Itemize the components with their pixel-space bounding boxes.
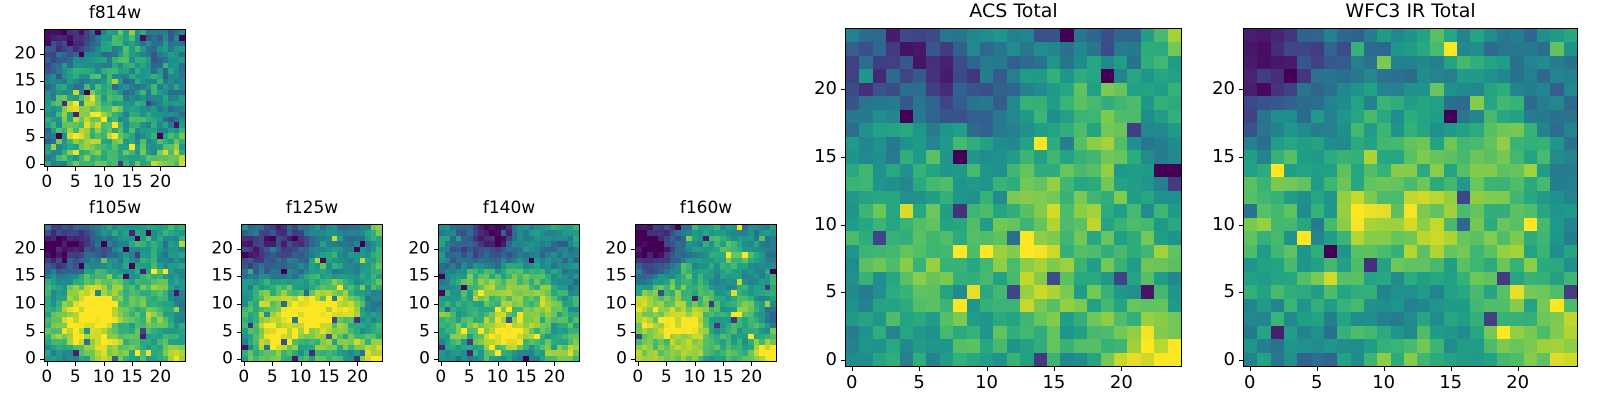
x-tick-label: 15 bbox=[515, 369, 537, 386]
y-tick bbox=[1239, 89, 1243, 90]
heatmap-cell bbox=[940, 258, 953, 271]
heatmap-cell bbox=[913, 285, 926, 298]
heatmap-cell bbox=[1271, 69, 1284, 82]
heatmap-cell bbox=[1364, 83, 1377, 96]
heatmap-cell bbox=[900, 164, 913, 177]
heatmap-cell bbox=[1550, 218, 1563, 231]
heatmap-cell bbox=[1537, 177, 1550, 190]
heatmap-cell bbox=[940, 83, 953, 96]
heatmap-cell bbox=[1034, 164, 1047, 177]
heatmap-cell bbox=[1311, 231, 1324, 244]
heatmap-cell bbox=[1497, 231, 1510, 244]
heatmap-cell bbox=[846, 42, 859, 55]
heatmap-cell bbox=[1244, 56, 1257, 69]
heatmap-cell bbox=[967, 96, 980, 109]
heatmap-cell bbox=[1564, 42, 1577, 55]
heatmap-cell bbox=[1244, 339, 1257, 352]
heatmap-cell bbox=[1537, 204, 1550, 217]
heatmap-cell bbox=[1564, 353, 1577, 366]
heatmap-cell bbox=[1470, 137, 1483, 150]
heatmap-cell bbox=[1324, 137, 1337, 150]
heatmap-cell bbox=[1417, 110, 1430, 123]
heatmap-cell bbox=[1404, 204, 1417, 217]
heatmap-cell bbox=[993, 150, 1006, 163]
heatmap-cell bbox=[1377, 177, 1390, 190]
heatmap-cell bbox=[1324, 150, 1337, 163]
heatmap-cell bbox=[1244, 96, 1257, 109]
heatmap-cell bbox=[1101, 177, 1114, 190]
heatmap-cell bbox=[1154, 177, 1167, 190]
heatmap-cell bbox=[1430, 150, 1443, 163]
heatmap-cell bbox=[1364, 123, 1377, 136]
heatmap-cell bbox=[1034, 326, 1047, 339]
heatmap-cell bbox=[1364, 245, 1377, 258]
heatmap-cell bbox=[1497, 312, 1510, 325]
y-tick-label: 10 bbox=[1199, 216, 1235, 234]
heatmap-cell bbox=[873, 150, 886, 163]
heatmap-cell bbox=[1257, 137, 1270, 150]
heatmap-cell bbox=[913, 326, 926, 339]
heatmap-cell bbox=[993, 69, 1006, 82]
heatmap-cell bbox=[1114, 29, 1127, 42]
heatmap-cell bbox=[1127, 29, 1140, 42]
heatmap-cell bbox=[1297, 258, 1310, 271]
heatmap-cell bbox=[1168, 123, 1181, 136]
heatmap-cell bbox=[1168, 258, 1181, 271]
heatmap-cell bbox=[1364, 272, 1377, 285]
heatmap-cell bbox=[926, 123, 939, 136]
y-tick bbox=[841, 157, 845, 158]
heatmap-cell bbox=[1141, 56, 1154, 69]
x-tick bbox=[1317, 367, 1318, 371]
heatmap-cell bbox=[1060, 83, 1073, 96]
heatmap-cell bbox=[1060, 272, 1073, 285]
heatmap-cell bbox=[1337, 204, 1350, 217]
heatmap-cell bbox=[1377, 123, 1390, 136]
heatmap-cell bbox=[1087, 56, 1100, 69]
heatmap-wfc3-ir-total bbox=[1243, 28, 1578, 367]
heatmap-cell bbox=[953, 69, 966, 82]
heatmap-cell bbox=[980, 83, 993, 96]
heatmap-cell bbox=[1564, 245, 1577, 258]
heatmap-cell bbox=[1484, 42, 1497, 55]
heatmap-cell bbox=[1047, 218, 1060, 231]
heatmap-cell bbox=[1154, 123, 1167, 136]
heatmap-cell bbox=[1141, 42, 1154, 55]
heatmap-cell bbox=[1087, 191, 1100, 204]
heatmap-cell bbox=[1324, 191, 1337, 204]
heatmap-cell bbox=[1257, 96, 1270, 109]
heatmap-cell bbox=[1337, 326, 1350, 339]
heatmap-cell bbox=[1007, 299, 1020, 312]
heatmap-cell bbox=[873, 326, 886, 339]
heatmap-cell bbox=[1364, 164, 1377, 177]
heatmap-cell bbox=[1377, 339, 1390, 352]
heatmap-cell bbox=[1470, 272, 1483, 285]
heatmap-cell bbox=[1550, 150, 1563, 163]
heatmap-cell bbox=[1007, 204, 1020, 217]
heatmap-cell bbox=[1284, 69, 1297, 82]
heatmap-cell bbox=[993, 96, 1006, 109]
heatmap-cell bbox=[1154, 339, 1167, 352]
heatmap-cell bbox=[913, 231, 926, 244]
heatmap-cell bbox=[1404, 96, 1417, 109]
heatmap-cell bbox=[940, 231, 953, 244]
panel-title-f125w: f125w bbox=[241, 198, 383, 218]
heatmap-cell bbox=[1364, 96, 1377, 109]
heatmap-cell bbox=[1074, 258, 1087, 271]
heatmap-cell bbox=[1257, 150, 1270, 163]
heatmap-cell bbox=[1244, 299, 1257, 312]
heatmap-cell bbox=[1537, 42, 1550, 55]
heatmap-cell bbox=[1417, 191, 1430, 204]
heatmap-cell bbox=[940, 245, 953, 258]
heatmap-cell bbox=[1087, 272, 1100, 285]
heatmap-cell bbox=[1324, 96, 1337, 109]
heatmap-cell bbox=[1444, 69, 1457, 82]
heatmap-cell bbox=[1430, 96, 1443, 109]
panel-title-acs-total: ACS Total bbox=[845, 0, 1182, 22]
heatmap-cell bbox=[953, 96, 966, 109]
heatmap-cell bbox=[1074, 96, 1087, 109]
heatmap-cell bbox=[1337, 150, 1350, 163]
heatmap-cell bbox=[1497, 56, 1510, 69]
heatmap-cell bbox=[953, 164, 966, 177]
heatmap-cell bbox=[993, 29, 1006, 42]
heatmap-cell bbox=[1391, 123, 1404, 136]
heatmap-cell bbox=[1364, 258, 1377, 271]
heatmap-cell bbox=[1364, 56, 1377, 69]
y-tick-label: 20 bbox=[1199, 80, 1235, 98]
heatmap-cell bbox=[1060, 312, 1073, 325]
heatmap-cell bbox=[1497, 204, 1510, 217]
heatmap-cell bbox=[1020, 110, 1033, 123]
heatmap-cell bbox=[1020, 272, 1033, 285]
heatmap-cell bbox=[1034, 42, 1047, 55]
heatmap-cell bbox=[1257, 272, 1270, 285]
heatmap-cell bbox=[1141, 123, 1154, 136]
heatmap-cell bbox=[926, 312, 939, 325]
x-tick bbox=[469, 362, 470, 366]
heatmap-cell bbox=[1168, 204, 1181, 217]
y-tick-label: 0 bbox=[394, 351, 430, 368]
y-tick-label: 15 bbox=[0, 268, 36, 285]
heatmap-cell bbox=[1524, 56, 1537, 69]
y-tick-label: 10 bbox=[0, 296, 36, 313]
heatmap-cell bbox=[1047, 299, 1060, 312]
heatmap-cell bbox=[1364, 312, 1377, 325]
heatmap-cell bbox=[1351, 177, 1364, 190]
heatmap-f814w bbox=[44, 29, 186, 167]
heatmap-cell bbox=[1391, 96, 1404, 109]
heatmap-cell bbox=[573, 356, 579, 361]
heatmap-cell bbox=[926, 56, 939, 69]
heatmap-cell bbox=[1271, 96, 1284, 109]
heatmap-cell bbox=[1047, 123, 1060, 136]
heatmap-cell bbox=[1510, 164, 1523, 177]
heatmap-cell bbox=[1391, 312, 1404, 325]
heatmap-cell bbox=[1154, 353, 1167, 366]
heatmap-cell bbox=[1430, 110, 1443, 123]
heatmap-cell bbox=[1524, 137, 1537, 150]
heatmap-cell bbox=[900, 137, 913, 150]
x-tick-label: 10 bbox=[93, 369, 115, 386]
heatmap-cell bbox=[1020, 218, 1033, 231]
heatmap-cell bbox=[1047, 177, 1060, 190]
heatmap-cell bbox=[1457, 123, 1470, 136]
heatmap-cell bbox=[846, 177, 859, 190]
heatmap-cell bbox=[1141, 339, 1154, 352]
heatmap-cell bbox=[1470, 231, 1483, 244]
heatmap-cell bbox=[1074, 29, 1087, 42]
heatmap-cell bbox=[1101, 258, 1114, 271]
y-tick bbox=[841, 225, 845, 226]
heatmap-cell bbox=[1404, 245, 1417, 258]
heatmap-cell bbox=[1364, 299, 1377, 312]
heatmap-cell bbox=[1284, 285, 1297, 298]
heatmap-cell bbox=[846, 69, 859, 82]
heatmap-cell bbox=[1510, 150, 1523, 163]
y-tick-label: 10 bbox=[801, 216, 837, 234]
heatmap-cell bbox=[846, 150, 859, 163]
x-tick bbox=[1451, 367, 1452, 371]
heatmap-cell bbox=[940, 204, 953, 217]
heatmap-cell bbox=[1417, 339, 1430, 352]
y-tick-label: 0 bbox=[0, 156, 36, 173]
heatmap-cell bbox=[1377, 69, 1390, 82]
x-tick bbox=[301, 362, 302, 366]
y-tick bbox=[40, 137, 44, 138]
heatmap-cell bbox=[873, 191, 886, 204]
heatmap-cell bbox=[1297, 353, 1310, 366]
heatmap-cell bbox=[1564, 69, 1577, 82]
heatmap-cell bbox=[1087, 299, 1100, 312]
heatmap-cell bbox=[886, 339, 899, 352]
heatmap-cell bbox=[873, 29, 886, 42]
heatmap-cell bbox=[1271, 204, 1284, 217]
x-tick-label: 20 bbox=[150, 174, 172, 191]
heatmap-cell bbox=[1168, 69, 1181, 82]
heatmap-cell bbox=[1087, 96, 1100, 109]
y-tick-label: 15 bbox=[394, 268, 430, 285]
heatmap-cell bbox=[1430, 177, 1443, 190]
heatmap-cell bbox=[1297, 231, 1310, 244]
heatmap-cell bbox=[1391, 245, 1404, 258]
heatmap-cell bbox=[1087, 29, 1100, 42]
heatmap-cell bbox=[1391, 137, 1404, 150]
heatmap-cell bbox=[859, 326, 872, 339]
heatmap-cell bbox=[1497, 218, 1510, 231]
heatmap-cell bbox=[1337, 56, 1350, 69]
heatmap-cell bbox=[1311, 137, 1324, 150]
heatmap-cell bbox=[1497, 353, 1510, 366]
heatmap-cell bbox=[846, 245, 859, 258]
heatmap-cell bbox=[1020, 69, 1033, 82]
heatmap-cell bbox=[1297, 326, 1310, 339]
heatmap-cell bbox=[886, 326, 899, 339]
x-tick-label: 15 bbox=[1439, 374, 1462, 392]
heatmap-cell bbox=[913, 123, 926, 136]
heatmap-cell bbox=[1417, 56, 1430, 69]
y-tick bbox=[841, 89, 845, 90]
heatmap-cell bbox=[1524, 150, 1537, 163]
x-tick bbox=[638, 362, 639, 366]
heatmap-cell bbox=[1060, 326, 1073, 339]
heatmap-cell bbox=[1510, 272, 1523, 285]
heatmap-cell bbox=[926, 339, 939, 352]
y-tick bbox=[1239, 157, 1243, 158]
heatmap-cell bbox=[1020, 285, 1033, 298]
heatmap-cell bbox=[1404, 299, 1417, 312]
heatmap-cell bbox=[1470, 177, 1483, 190]
heatmap-cell bbox=[1101, 231, 1114, 244]
heatmap-cell bbox=[967, 339, 980, 352]
heatmap-cell bbox=[1127, 83, 1140, 96]
y-tick bbox=[40, 332, 44, 333]
heatmap-cell bbox=[886, 96, 899, 109]
heatmap-cell bbox=[846, 137, 859, 150]
heatmap-cell bbox=[967, 83, 980, 96]
heatmap-cell bbox=[1257, 123, 1270, 136]
heatmap-cell bbox=[1047, 353, 1060, 366]
heatmap-cell bbox=[1074, 191, 1087, 204]
heatmap-cell bbox=[1417, 258, 1430, 271]
heatmap-cell bbox=[926, 177, 939, 190]
heatmap-cell bbox=[1470, 123, 1483, 136]
heatmap-cell bbox=[1127, 218, 1140, 231]
heatmap-cell bbox=[1497, 285, 1510, 298]
heatmap-cell bbox=[1470, 69, 1483, 82]
heatmap-cell bbox=[1364, 150, 1377, 163]
heatmap-cell bbox=[1564, 177, 1577, 190]
heatmap-cell bbox=[1430, 258, 1443, 271]
heatmap-cell bbox=[1484, 123, 1497, 136]
heatmap-cell bbox=[1007, 218, 1020, 231]
y-tick-label: 10 bbox=[197, 296, 233, 313]
heatmap-cell bbox=[967, 137, 980, 150]
heatmap-cell bbox=[1430, 272, 1443, 285]
heatmap-cell bbox=[993, 299, 1006, 312]
heatmap-cell bbox=[1510, 218, 1523, 231]
heatmap-cell bbox=[1297, 285, 1310, 298]
heatmap-cell bbox=[1127, 353, 1140, 366]
heatmap-cell bbox=[1034, 231, 1047, 244]
heatmap-cell bbox=[1087, 353, 1100, 366]
heatmap-cell bbox=[1087, 177, 1100, 190]
heatmap-cell bbox=[1101, 285, 1114, 298]
heatmap-cell bbox=[953, 272, 966, 285]
heatmap-cell bbox=[940, 218, 953, 231]
heatmap-cell bbox=[1524, 123, 1537, 136]
heatmap-cell bbox=[1550, 339, 1563, 352]
heatmap-cell bbox=[1497, 245, 1510, 258]
heatmap-cell bbox=[953, 339, 966, 352]
heatmap-cell bbox=[886, 245, 899, 258]
heatmap-cell bbox=[1114, 339, 1127, 352]
y-tick bbox=[40, 109, 44, 110]
heatmap-cell bbox=[1297, 123, 1310, 136]
heatmap-cell bbox=[1311, 299, 1324, 312]
heatmap-cell bbox=[1047, 312, 1060, 325]
heatmap-cell bbox=[1537, 83, 1550, 96]
heatmap-cell bbox=[1484, 218, 1497, 231]
heatmap-cell bbox=[1351, 150, 1364, 163]
heatmap-cell bbox=[1127, 110, 1140, 123]
heatmap-cell bbox=[967, 353, 980, 366]
heatmap-cell bbox=[1404, 177, 1417, 190]
heatmap-cell bbox=[1311, 110, 1324, 123]
heatmap-cell bbox=[886, 56, 899, 69]
heatmap-cell bbox=[1444, 272, 1457, 285]
heatmap-cell bbox=[1377, 285, 1390, 298]
heatmap-cell bbox=[1537, 272, 1550, 285]
heatmap-cell bbox=[953, 56, 966, 69]
heatmap-cell bbox=[1034, 110, 1047, 123]
heatmap-cell bbox=[1311, 353, 1324, 366]
heatmap-cell bbox=[1020, 204, 1033, 217]
heatmap-cell bbox=[1141, 96, 1154, 109]
heatmap-cell bbox=[1087, 245, 1100, 258]
heatmap-cell bbox=[1007, 285, 1020, 298]
heatmap-cell bbox=[859, 339, 872, 352]
heatmap-cell bbox=[1114, 353, 1127, 366]
heatmap-cell bbox=[1034, 69, 1047, 82]
heatmap-cell bbox=[953, 123, 966, 136]
heatmap-cell bbox=[913, 29, 926, 42]
x-tick-label: 15 bbox=[121, 174, 143, 191]
heatmap-cell bbox=[846, 164, 859, 177]
heatmap-cell bbox=[1154, 191, 1167, 204]
heatmap-cell bbox=[1297, 245, 1310, 258]
heatmap-cell bbox=[770, 356, 776, 361]
y-tick-label: 20 bbox=[394, 240, 430, 257]
heatmap-cell bbox=[900, 326, 913, 339]
heatmap-cell bbox=[940, 272, 953, 285]
heatmap-cell bbox=[1047, 285, 1060, 298]
heatmap-cell bbox=[1114, 258, 1127, 271]
heatmap-cell bbox=[1524, 312, 1537, 325]
heatmap-cell bbox=[1034, 150, 1047, 163]
heatmap-cell bbox=[1457, 312, 1470, 325]
heatmap-cell bbox=[913, 191, 926, 204]
heatmap-cell bbox=[1404, 285, 1417, 298]
heatmap-cell bbox=[1457, 326, 1470, 339]
heatmap-cell bbox=[1537, 56, 1550, 69]
heatmap-cell bbox=[1141, 150, 1154, 163]
heatmap-acs-total bbox=[845, 28, 1182, 367]
heatmap-cell bbox=[1364, 177, 1377, 190]
heatmap-cell bbox=[1444, 218, 1457, 231]
heatmap-cell bbox=[859, 29, 872, 42]
heatmap-cell bbox=[1337, 272, 1350, 285]
heatmap-cell bbox=[859, 83, 872, 96]
heatmap-cell bbox=[940, 326, 953, 339]
heatmap-cell bbox=[953, 137, 966, 150]
heatmap-cell bbox=[953, 353, 966, 366]
heatmap-cell bbox=[859, 69, 872, 82]
heatmap-cell bbox=[1484, 150, 1497, 163]
y-tick bbox=[1239, 292, 1243, 293]
heatmap-cell bbox=[1257, 83, 1270, 96]
heatmap-cell bbox=[1244, 137, 1257, 150]
heatmap-cell bbox=[1337, 123, 1350, 136]
heatmap-cell bbox=[1154, 312, 1167, 325]
heatmap-cell bbox=[1430, 339, 1443, 352]
x-tick bbox=[987, 367, 988, 371]
heatmap-cell bbox=[1007, 83, 1020, 96]
heatmap-cell bbox=[1074, 326, 1087, 339]
heatmap-cell bbox=[1154, 69, 1167, 82]
